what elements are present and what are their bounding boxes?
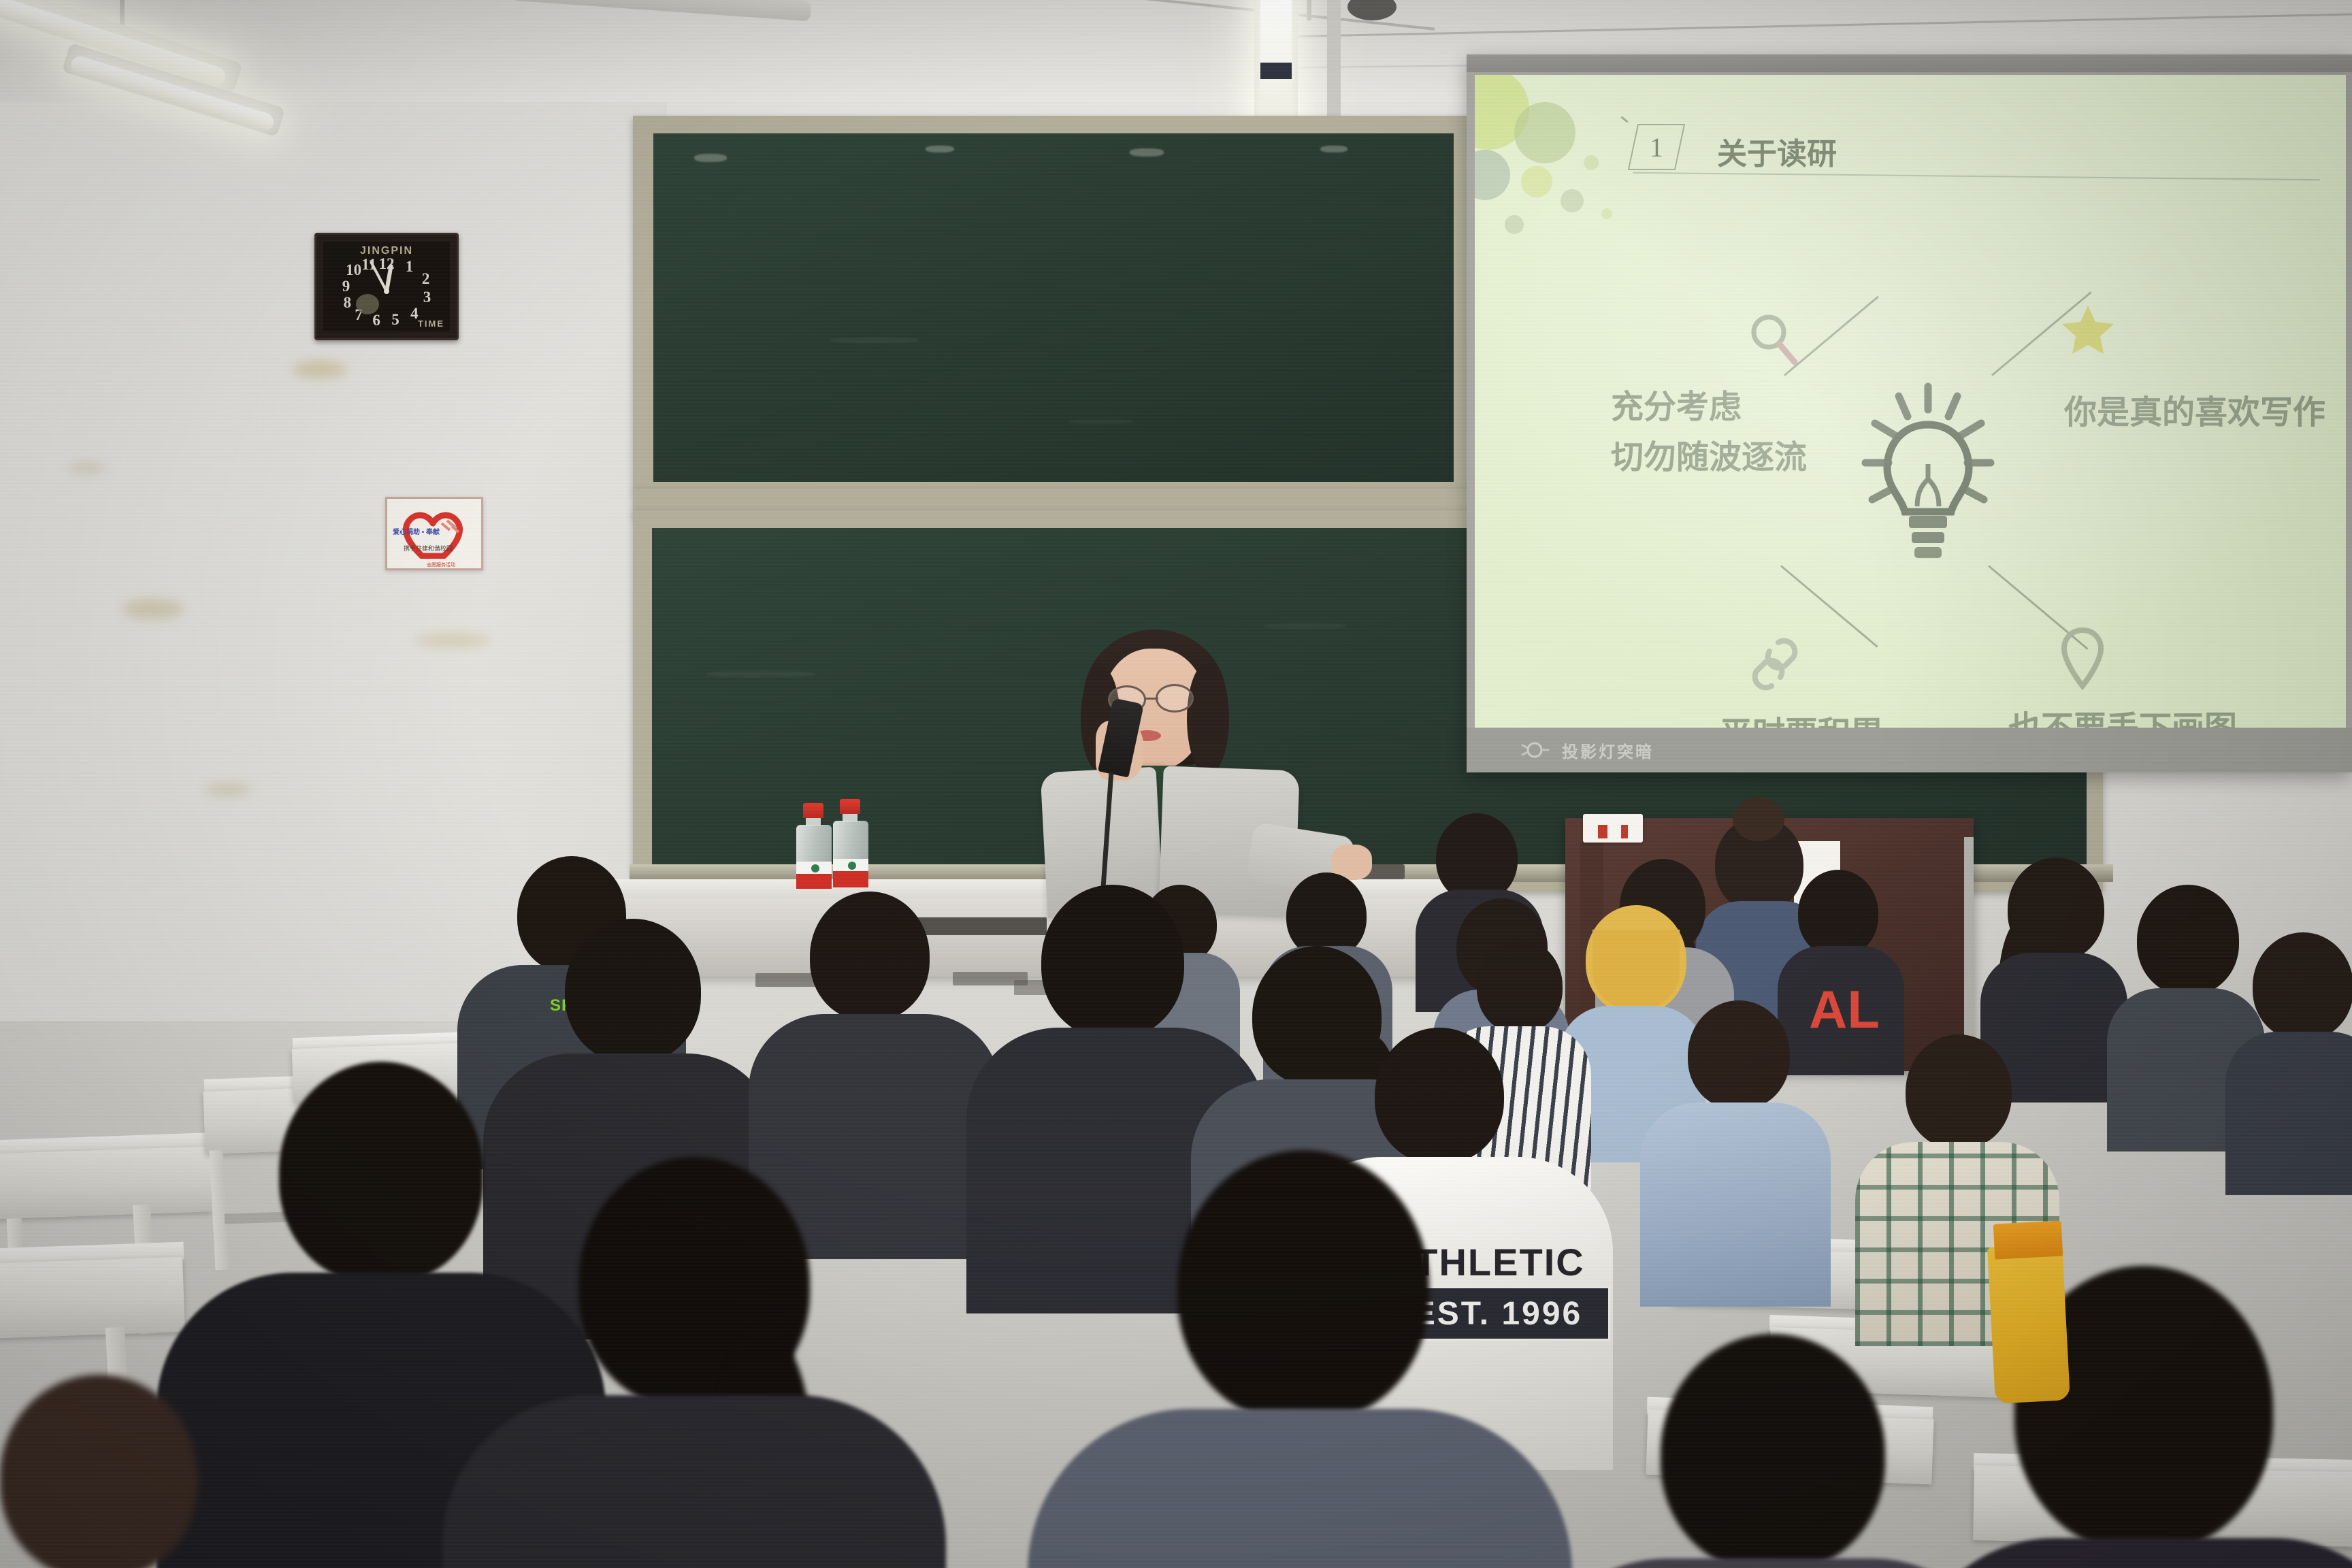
water-bottle bbox=[795, 803, 833, 889]
wall-smudge bbox=[293, 361, 347, 378]
magnifier-icon bbox=[1747, 312, 1800, 374]
clock-sub-label: TIME bbox=[418, 318, 444, 329]
screen-top-bar bbox=[1467, 54, 2352, 72]
clock-numeral: 10 bbox=[346, 261, 361, 279]
wall-smudge bbox=[415, 633, 490, 648]
jacket-letters: AL bbox=[1809, 979, 1880, 1041]
presenter bbox=[1021, 630, 1334, 915]
lightbulb-icon bbox=[1860, 382, 1996, 610]
location-pin-icon bbox=[2061, 627, 2104, 693]
clock-numeral: 4 bbox=[410, 305, 419, 323]
decor-bubble bbox=[1475, 150, 1510, 200]
clock-center-pin bbox=[384, 289, 389, 294]
projector-watermark: 投影灯突暗 bbox=[1562, 738, 1654, 762]
slide-text-bottom-right-line1: 也不要丢下画图 bbox=[2008, 701, 2237, 728]
clock-numeral: 3 bbox=[423, 289, 431, 306]
screen-footer-bar: 投影灯突暗 bbox=[1467, 728, 2352, 772]
lecture-hall-photo: JINGPIN TIME 12 1 2 3 4 5 6 7 8 9 10 11 bbox=[0, 0, 2352, 1568]
presenter-glasses-bridge bbox=[1145, 698, 1158, 700]
slide-section-number-box: 1 bbox=[1628, 124, 1685, 170]
projection-screen: 1 关于读研 bbox=[1467, 54, 2352, 772]
slide-text-top-left-line1: 充分考虑 bbox=[1611, 380, 1742, 427]
slide-section-number: 1 bbox=[1650, 131, 1663, 163]
clock-numeral: 8 bbox=[344, 294, 352, 312]
slide-text-top-right-line1: 你是真的喜欢写作 bbox=[2064, 385, 2325, 433]
charity-poster: 爱心捐助 • 奉献 携手共建和谐校园 志愿服务活动 bbox=[385, 497, 483, 570]
wall-smudge bbox=[122, 599, 184, 619]
juice-bottle-cap bbox=[1993, 1220, 2063, 1259]
presenter-hair-side bbox=[1187, 662, 1229, 775]
decor-bubble bbox=[1584, 155, 1599, 170]
chalkboard-upper-surface bbox=[653, 133, 1454, 482]
decor-bubble bbox=[1514, 102, 1575, 163]
presentation-slide: 1 关于读研 bbox=[1475, 75, 2346, 728]
slide-text-top-left-line2: 切勿随波逐流 bbox=[1611, 430, 1807, 478]
presenter-glasses-right bbox=[1156, 684, 1194, 713]
poster-dark-line: 携手共建和谐校园 bbox=[404, 544, 453, 553]
hoodie-year: EST. 1996 bbox=[1414, 1295, 1582, 1333]
water-bottle bbox=[832, 799, 870, 889]
tissue-box bbox=[1583, 814, 1643, 843]
clock-pendulum-disc bbox=[356, 294, 379, 314]
clock-numeral: 5 bbox=[391, 311, 399, 329]
slide-header-tick bbox=[1620, 116, 1628, 122]
poster-blue-line: 爱心捐助 • 奉献 bbox=[393, 526, 440, 536]
wall-clock: JINGPIN TIME 12 1 2 3 4 5 6 7 8 9 10 11 bbox=[314, 233, 459, 340]
clock-numeral: 1 bbox=[406, 258, 414, 276]
wall-smudge bbox=[204, 783, 252, 796]
link-icon bbox=[1751, 633, 1799, 699]
clock-numeral: 9 bbox=[342, 278, 350, 295]
decor-bubble bbox=[1505, 215, 1524, 234]
slide-text-bottom-left-line1: 平时要积累 bbox=[1720, 706, 1883, 728]
juice-bottle bbox=[1987, 1243, 2070, 1403]
wall-smudge bbox=[68, 463, 105, 474]
slide-header-rule bbox=[1633, 172, 2320, 181]
poster-footer-line: 志愿服务活动 bbox=[427, 561, 455, 568]
projector-lamp-icon bbox=[1520, 738, 1550, 765]
decor-bubble bbox=[1521, 166, 1552, 197]
slide-section-title: 关于读研 bbox=[1717, 129, 1837, 173]
decor-bubble bbox=[1561, 189, 1584, 212]
clock-numeral: 2 bbox=[422, 270, 430, 288]
clock-numeral: 6 bbox=[372, 312, 380, 329]
star-icon bbox=[2061, 304, 2114, 359]
decor-bubble bbox=[1601, 208, 1612, 219]
